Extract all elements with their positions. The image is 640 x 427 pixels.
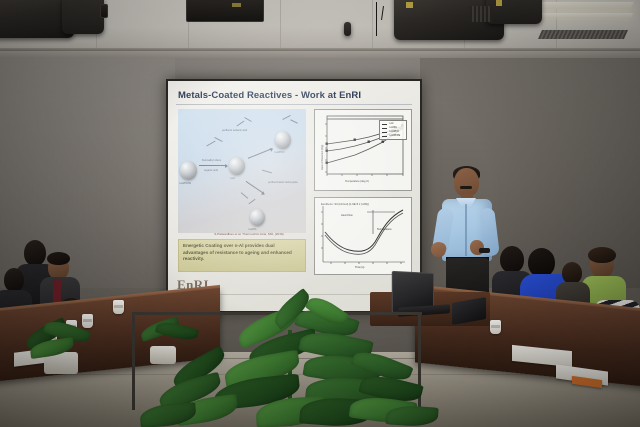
projector-indicator — [232, 3, 241, 7]
nanoparticle-sphere — [250, 209, 265, 226]
chart-upper-right: n-Al n-Al/FA n-Al/PFO n-Al/PFPE Temperat… — [314, 109, 412, 191]
slide-callout-box: Energetic Coating over n-Al provides dua… — [178, 239, 306, 272]
reaction-arrow — [199, 165, 227, 166]
speaker-label — [496, 0, 502, 6]
reaction-scheme-diagram: n-Al/PFPE n-Al n-Al/PFO n-Al/FA fluoroal… — [178, 109, 306, 233]
chart-upper-right-legend: n-Al n-Al/FA n-Al/PFO n-Al/PFPE — [379, 120, 407, 140]
coffee-cup — [82, 314, 93, 328]
projector-label — [406, 2, 413, 8]
ceiling-speaker — [62, 0, 104, 34]
presenter-wristwatch — [479, 248, 490, 253]
fluorescent-light-bar — [527, 13, 633, 18]
plant-pot — [150, 346, 176, 364]
floor-rail — [132, 312, 135, 410]
title-divider — [176, 104, 412, 105]
chart-lower-right: Exotherm: 93 (kJ/mol) [1.0E-5 J (mW)] He… — [314, 197, 412, 275]
coffee-cup — [113, 300, 124, 314]
attendee-head — [4, 268, 24, 292]
chart-lower-right-annotation-2: Temperature — [377, 228, 392, 231]
conference-room-photo: Metals-Coated Reactives - Work at EnRI n… — [0, 0, 640, 427]
air-vent — [538, 30, 628, 39]
ceiling-speaker — [486, 0, 542, 24]
attendee-hair — [47, 252, 70, 265]
nanoparticle-sphere — [229, 157, 245, 175]
presenter-mustache — [460, 186, 472, 189]
ceiling-seam — [0, 48, 640, 51]
presentation-slide[interactable]: Metals-Coated Reactives - Work at EnRI n… — [168, 81, 420, 311]
nanoparticle-sphere — [275, 131, 291, 149]
slide-citation: S.Patwardhan et al, Thermochim Acta, 630… — [194, 232, 304, 236]
chart-lower-right-xlabel: Time (s) — [355, 266, 364, 269]
presenter-shirt-placket — [465, 204, 467, 256]
attendee-head — [562, 262, 582, 284]
chart-upper-right-ylabel: Heat of Reaction (J/g) — [321, 145, 324, 170]
wall-bracket — [100, 4, 108, 18]
air-vent — [470, 6, 492, 22]
projector-unit — [186, 0, 264, 22]
reaction-arrow — [246, 181, 265, 194]
attendee-head — [24, 240, 46, 266]
coffee-cup — [490, 320, 501, 334]
hanging-cable — [376, 2, 377, 36]
chart-lower-right-curves — [315, 198, 411, 274]
chart-lower-right-annotation-1: Heat Flow — [341, 214, 353, 217]
chart-lower-right-title: Exotherm: 93 (kJ/mol) [1.0E-5 J (mW)] — [321, 202, 369, 206]
attendee-head — [500, 246, 524, 273]
attendee-hair — [588, 247, 616, 263]
nanoparticle-sphere — [180, 161, 197, 180]
ceiling-sprinkler — [344, 22, 351, 36]
reaction-arrow — [248, 148, 272, 159]
presenter-head — [454, 168, 479, 197]
slide-callout-text: Energetic Coating over n-Al provides dua… — [183, 243, 301, 263]
chart-upper-right-xlabel: Temperature (deg C) — [345, 180, 369, 183]
attendee-head — [528, 248, 555, 277]
slide-title: Metals-Coated Reactives - Work at EnRI — [178, 90, 361, 101]
